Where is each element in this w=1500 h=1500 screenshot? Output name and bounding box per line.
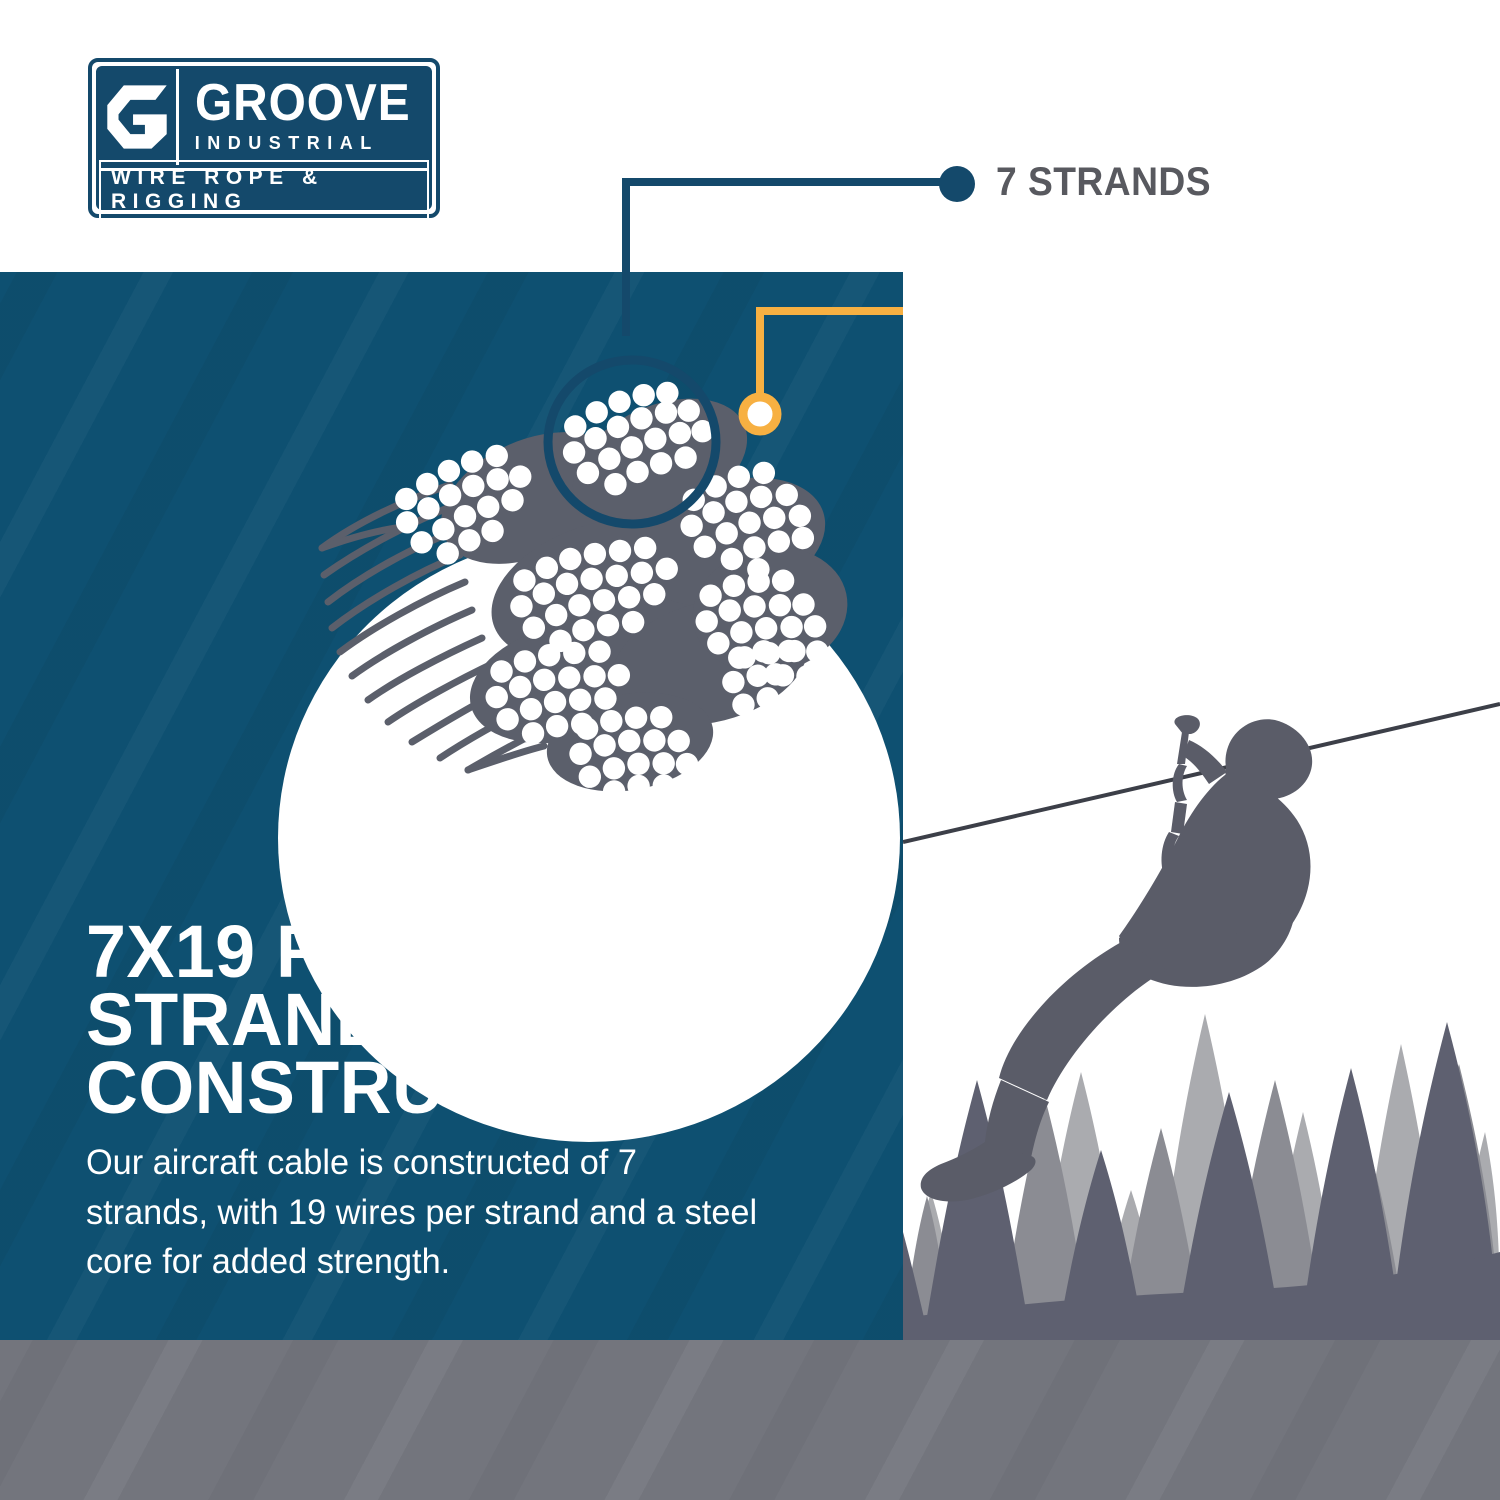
page-title: 7X19 FLEXIBLE STRAND CONSTRUCTION <box>86 918 876 1122</box>
infographic-canvas: 7X19 FLEXIBLE STRAND CONSTRUCTION Our ai… <box>0 0 1500 1500</box>
band-wave-texture <box>0 1340 1500 1500</box>
navy-dot-icon <box>939 166 975 202</box>
brand-logo[interactable]: GROOVE INDUSTRIAL WIRE ROPE & RIGGING <box>88 58 440 218</box>
logo-tagline: WIRE ROPE & RIGGING <box>111 166 417 214</box>
zipline-rider-over-forest-photo <box>903 272 1500 1340</box>
logo-top-row: GROOVE INDUSTRIAL <box>99 69 429 165</box>
logo-tagline-box: WIRE ROPE & RIGGING <box>99 160 429 221</box>
logo-brand-sub: INDUSTRIAL <box>195 133 429 154</box>
groove-g-monogram-icon <box>99 69 179 165</box>
bottom-grey-band <box>0 1340 1500 1500</box>
callout-label: 7 STRANDS <box>996 160 1211 205</box>
logo-wordmark: GROOVE INDUSTRIAL <box>179 69 429 165</box>
logo-inner-frame: GROOVE INDUSTRIAL WIRE ROPE & RIGGING <box>96 66 432 210</box>
logo-brand-name: GROOVE <box>195 80 411 128</box>
callout-item-strands: 7 STRANDS <box>996 160 1227 205</box>
body-copy: Our aircraft cable is constructed of 7 s… <box>86 1138 762 1287</box>
headline-line-2: STRAND CONSTRUCTION <box>86 986 852 1122</box>
logo-tagline-row: WIRE ROPE & RIGGING <box>99 173 429 207</box>
headline-line-1: 7X19 FLEXIBLE <box>86 918 852 986</box>
